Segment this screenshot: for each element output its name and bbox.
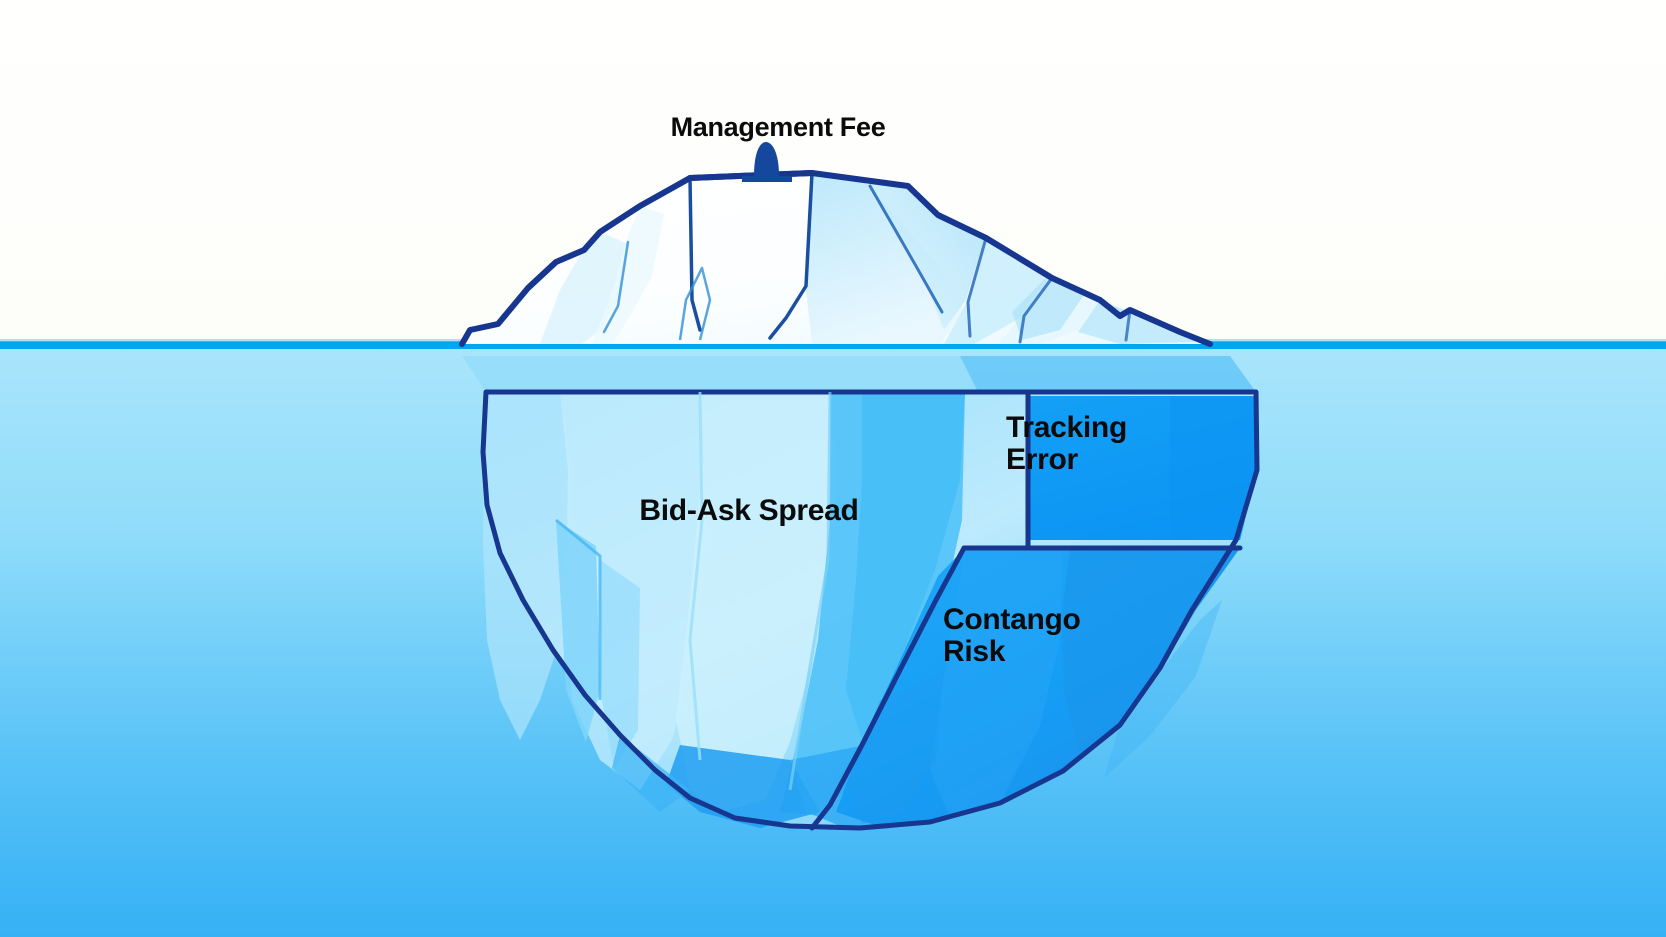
label-contango-risk: Contango Risk [943,604,1163,668]
iceberg-diagram-canvas: Management Fee Bid-Ask Spread Tracking E… [0,0,1666,937]
label-tracking-error: Tracking Error [1006,412,1206,476]
label-management-fee: Management Fee [0,113,1611,142]
management-fee-tip-base [742,176,792,182]
submerged-top-shelf-highlight-right [960,356,1256,392]
label-bid-ask-spread: Bid-Ask Spread [0,495,1582,527]
